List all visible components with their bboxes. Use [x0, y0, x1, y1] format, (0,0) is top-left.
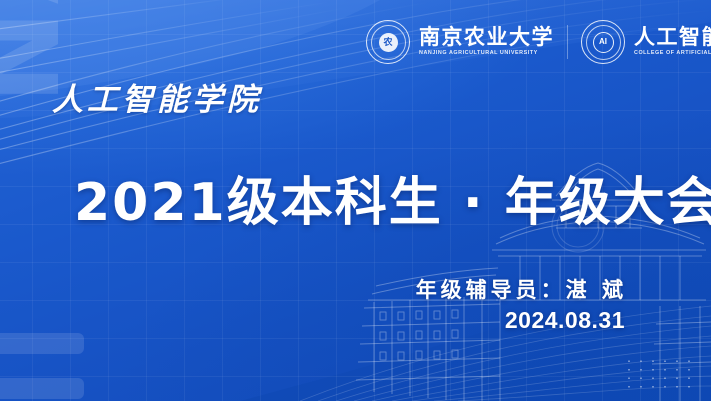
college-name-cn: 人工智能学院: [634, 27, 711, 48]
ai-college-seal-icon: AI: [581, 20, 625, 64]
university-seal-core: 农: [379, 33, 398, 52]
slide-date: 2024.08.31: [505, 307, 625, 334]
presenter-line: 年级辅导员：湛 斌: [416, 274, 627, 304]
ai-college-seal-core: AI: [593, 32, 614, 53]
main-title: 2021级本科生 · 年级大会: [74, 160, 711, 235]
corner-bar-bottom: [0, 378, 84, 399]
corner-bar-top: [0, 333, 84, 354]
presentation-slide: NAU 农 南京农业大学 NANJING AGRICULTURAL UNIVER…: [0, 0, 711, 401]
college-logo-text: 人工智能学院 COLLEGE OF ARTIFICIAL INTELLIGENC…: [634, 27, 711, 56]
college-name-heading: 人工智能学院: [52, 74, 262, 119]
university-name-cn: 南京农业大学: [419, 27, 554, 48]
dot-grid-decoration: [623, 357, 699, 391]
university-logo-text: 南京农业大学 NANJING AGRICULTURAL UNIVERSITY: [419, 27, 554, 56]
logo-row: 农 南京农业大学 NANJING AGRICULTURAL UNIVERSITY…: [366, 14, 711, 70]
university-seal-icon: 农: [366, 20, 410, 64]
college-name-en: COLLEGE OF ARTIFICIAL INTELLIGENCE: [634, 51, 711, 56]
logo-divider: [567, 25, 568, 59]
university-name-en: NANJING AGRICULTURAL UNIVERSITY: [419, 51, 554, 56]
